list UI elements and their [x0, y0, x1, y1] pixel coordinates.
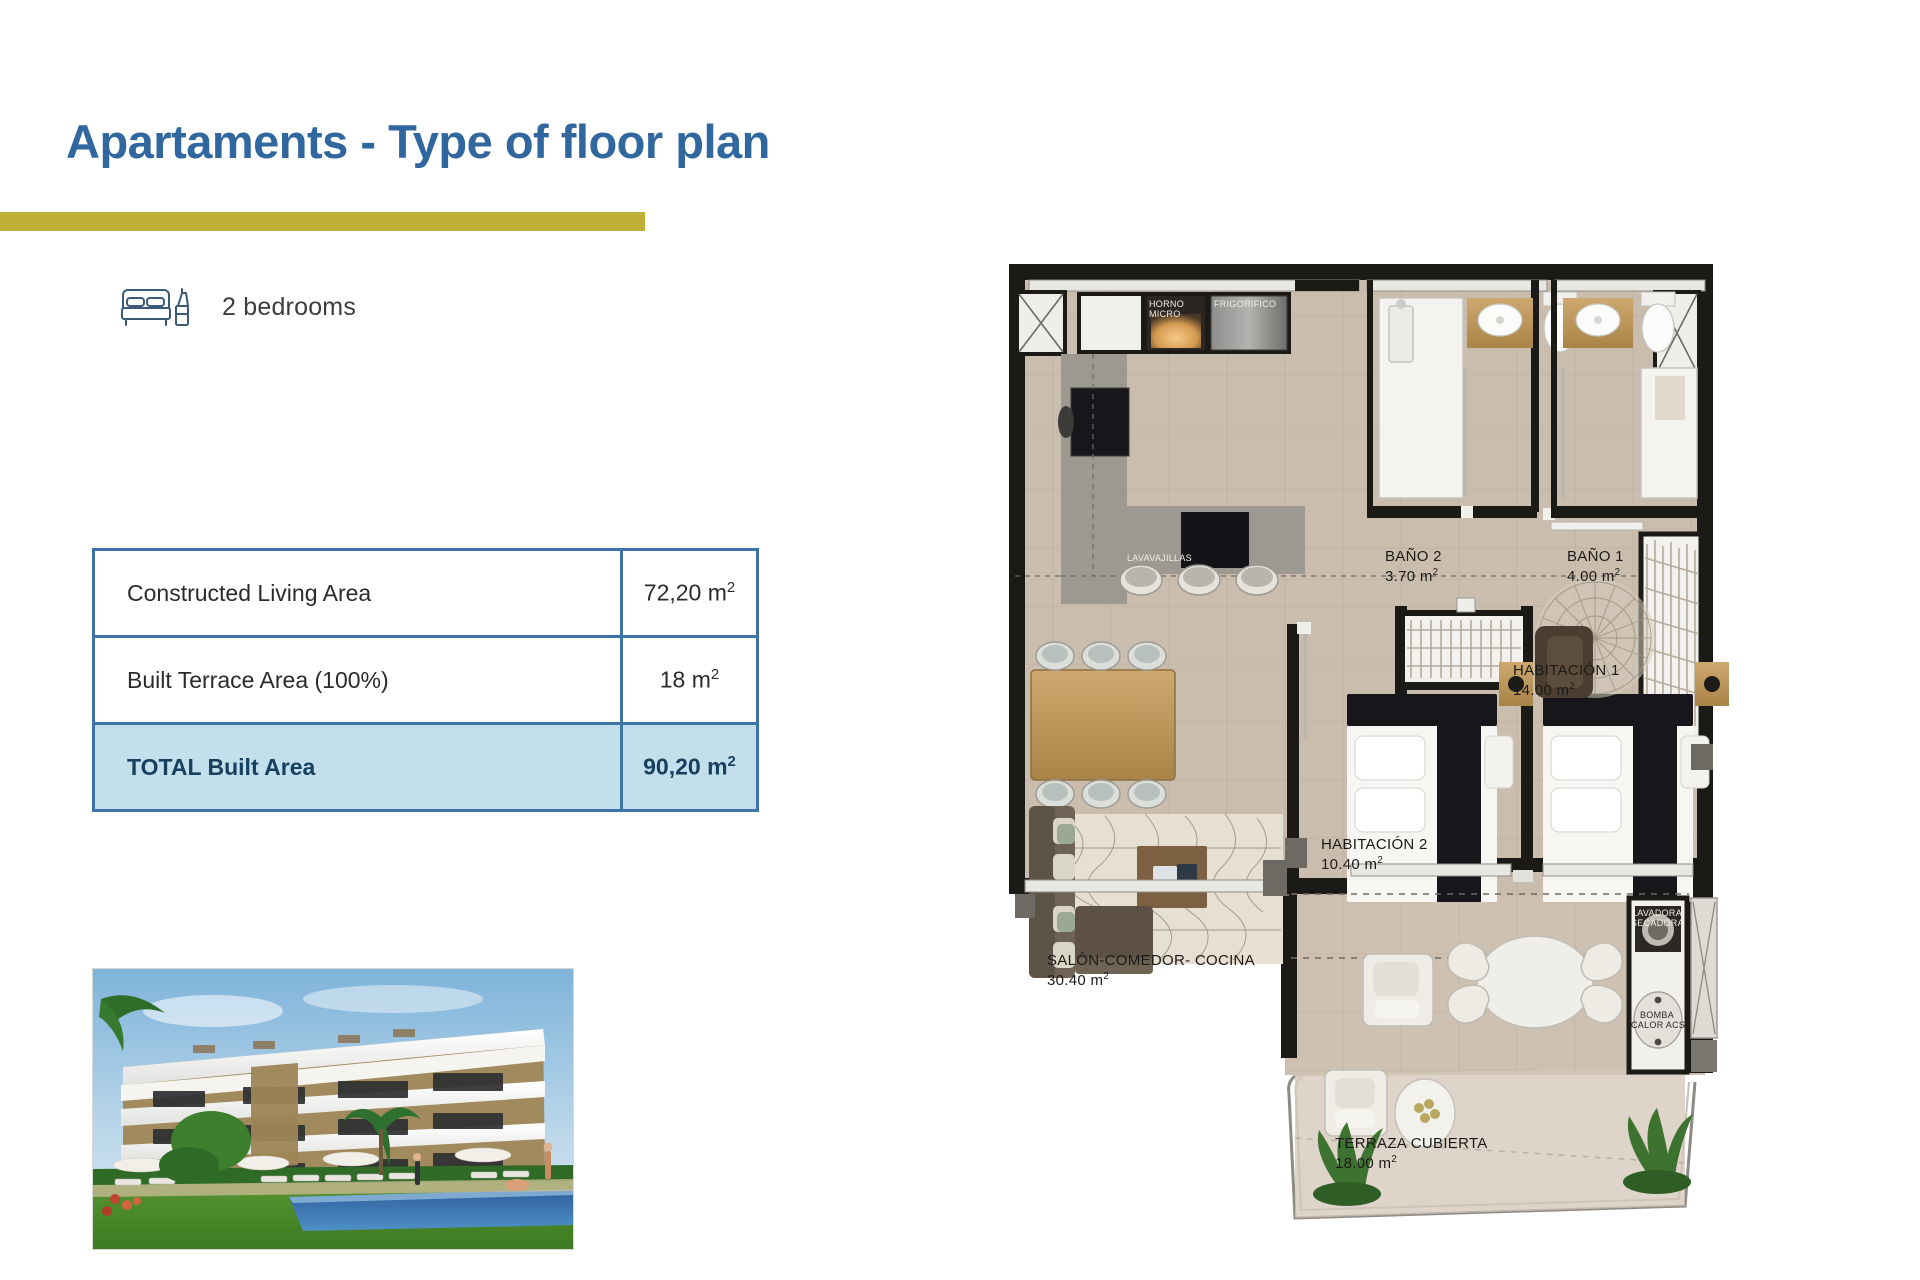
row-value-text: 90,20 m	[643, 754, 727, 780]
room-name: BAÑO 2	[1385, 548, 1442, 565]
row-value: 72,20 m2	[622, 550, 758, 637]
accent-bar	[0, 212, 645, 231]
row-value-text: 18 m	[660, 667, 711, 693]
appliance-label-oven: HORNO MICRO	[1149, 299, 1184, 320]
room-name: BAÑO 1	[1567, 548, 1624, 565]
row-label: Built Terrace Area (100%)	[94, 637, 622, 724]
floor-plan: BAÑO 2 3.70 m2 BAÑO 1 4.00 m2 HABITACIÓN…	[995, 258, 1815, 1248]
appliance-label-fridge: FRIGORIFICO	[1214, 299, 1276, 309]
room-area: 30.40 m2	[1047, 972, 1109, 989]
room-label-habitacion2: HABITACIÓN 2 10.40 m2	[1321, 836, 1428, 875]
room-label-habitacion1: HABITACIÓN 1 14.00 m2	[1513, 662, 1620, 701]
row-value: 90,20 m2	[622, 724, 758, 811]
row-label: Constructed Living Area	[94, 550, 622, 637]
room-name: SALÓN-COMEDOR- COCINA	[1047, 952, 1255, 969]
building-render-image	[92, 968, 574, 1250]
room-label-salon: SALÓN-COMEDOR- COCINA 30.40 m2	[1047, 952, 1255, 991]
room-area: 3.70 m2	[1385, 568, 1438, 585]
areas-table: Constructed Living Area 72,20 m2 Built T…	[92, 548, 759, 812]
room-label-bano1: BAÑO 1 4.00 m2	[1567, 548, 1624, 587]
room-name: HABITACIÓN 1	[1513, 662, 1620, 679]
row-value: 18 m2	[622, 637, 758, 724]
row-value-unit: 2	[711, 666, 719, 683]
table-row: Constructed Living Area 72,20 m2	[94, 550, 758, 637]
room-label-bano2: BAÑO 2 3.70 m2	[1385, 548, 1442, 587]
bedrooms-label: 2 bedrooms	[222, 293, 356, 322]
appliance-label-heat-pump: BOMBA CALOR ACS	[1631, 1010, 1683, 1031]
table-row: Built Terrace Area (100%) 18 m2	[94, 637, 758, 724]
bedrooms-badge: 2 bedrooms	[118, 284, 356, 330]
room-label-terraza: TERRAZA CUBIERTA 18.00 m2	[1335, 1135, 1488, 1174]
room-area: 18.00 m2	[1335, 1155, 1397, 1172]
row-label: TOTAL Built Area	[94, 724, 622, 811]
row-value-unit: 2	[727, 579, 735, 596]
table-row-total: TOTAL Built Area 90,20 m2	[94, 724, 758, 811]
appliance-label-dishwasher: LAVAVAJILLAS	[1127, 553, 1192, 563]
room-area: 10.40 m2	[1321, 856, 1383, 873]
row-value-unit: 2	[728, 753, 736, 770]
page-title: Apartaments - Type of floor plan	[66, 114, 770, 169]
row-value-text: 72,20 m	[644, 580, 727, 606]
room-area: 4.00 m2	[1567, 568, 1620, 585]
appliance-label-washer-dryer: LAVADORA SECADORA	[1631, 908, 1683, 929]
bed-icon	[118, 284, 196, 330]
room-name: TERRAZA CUBIERTA	[1335, 1135, 1488, 1152]
room-name: HABITACIÓN 2	[1321, 836, 1428, 853]
room-area: 14.00 m2	[1513, 682, 1575, 699]
